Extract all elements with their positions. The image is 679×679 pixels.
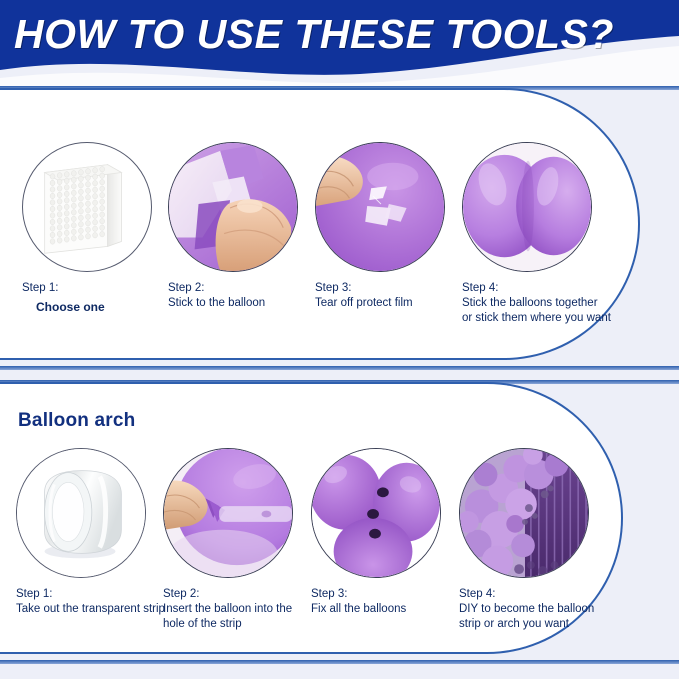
finished-balloon-arch-drawing [460,449,588,577]
step-label: Step 2: [163,587,313,602]
glue-dot-sheet-drawing [23,143,151,271]
panel-heading: Balloon arch [18,410,135,432]
step-label: Step 1: [22,281,172,296]
panel-2-bottom-rule [0,660,679,664]
hand-sticking-dot-photo [168,142,298,272]
peeling-film-photo [315,142,445,272]
insert-balloon-into-strip-drawing [164,449,292,577]
step-text: Take out the transparent strip [16,602,166,617]
step-caption: Step 3: Fix all the balloons [311,587,461,617]
step-cell: Step 4: DIY to become the balloon strip … [459,448,609,631]
step-caption: Step 1: Choose one [22,281,172,315]
hand-sticking-dot-drawing [169,143,297,271]
step-caption: Step 4: Stick the balloons together or s… [462,281,612,325]
step-cell: Step 4: Stick the balloons together or s… [462,142,612,325]
step-label: Step 2: [168,281,318,296]
step-text: Insert the balloon into the [163,602,313,617]
step-cell: Step 2: Stick to the balloon [168,142,318,311]
transparent-strip-roll-drawing [17,449,145,577]
peeling-film-drawing [316,143,444,271]
header-banner: HOW TO USE THESE TOOLS? [0,0,679,88]
step-cell: Step 3: Tear off protect film [315,142,465,311]
step-text: DIY to become the balloon [459,602,609,617]
step-label: Step 4: [459,587,609,602]
step-text: Tear off protect film [315,296,465,311]
glue-dot-sheet-icon [22,142,152,272]
two-balloons-joined-drawing [463,143,591,271]
step-caption: Step 2: Stick to the balloon [168,281,318,311]
infographic-page: HOW TO USE THESE TOOLS? [0,0,679,679]
step-label: Step 3: [311,587,461,602]
step-text: Choose one [22,296,172,315]
step-text: Stick to the balloon [168,296,318,311]
page-title: HOW TO USE THESE TOOLS? [14,7,614,61]
step-text: Fix all the balloons [311,602,461,617]
step-text: strip or arch you want [459,617,609,632]
step-caption: Step 3: Tear off protect film [315,281,465,311]
step-cell: Step 1: Choose one [22,142,172,315]
three-balloons-fixed-drawing [312,449,440,577]
two-balloons-joined-photo [462,142,592,272]
insert-balloon-into-strip-photo [163,448,293,578]
transparent-strip-roll-photo [16,448,146,578]
step-cell: Step 3: Fix all the balloons [311,448,461,617]
step-caption: Step 4: DIY to become the balloon strip … [459,587,609,631]
panel-balloon-arch: Balloon arch [0,382,623,654]
step-text: or stick them where you want [462,311,612,326]
step-caption: Step 2: Insert the balloon into the hole… [163,587,313,631]
panel-glue-dots: Step 1: Choose one [0,88,640,360]
finished-balloon-arch-photo [459,448,589,578]
step-label: Step 4: [462,281,612,296]
step-text: hole of the strip [163,617,313,632]
three-balloons-fixed-photo [311,448,441,578]
step-caption: Step 1: Take out the transparent strip [16,587,166,617]
step-label: Step 3: [315,281,465,296]
step-cell: Step 1: Take out the transparent strip [16,448,166,617]
panel-1-bottom-rule [0,366,679,370]
step-cell: Step 2: Insert the balloon into the hole… [163,448,313,631]
step-label: Step 1: [16,587,166,602]
step-text: Stick the balloons together [462,296,612,311]
